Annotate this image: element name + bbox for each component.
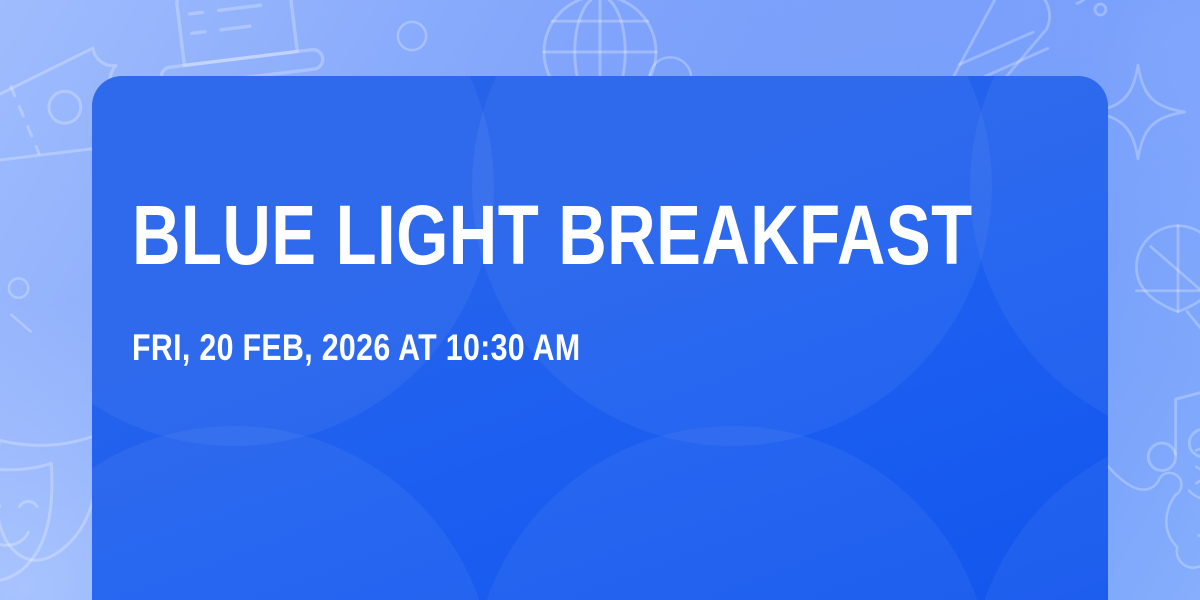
event-datetime: Fri, 20 Feb, 2026 at 10:30 AM [132, 329, 900, 366]
swirl-icon [1104, 448, 1200, 578]
card-content: Blue Light Breakfast Fri, 20 Feb, 2026 a… [132, 200, 1068, 366]
card-bubble [472, 426, 992, 600]
music-note-icon [1140, 380, 1200, 476]
dot-icon [6, 276, 36, 334]
event-title: Blue Light Breakfast [132, 200, 881, 271]
card-bubble [92, 426, 494, 600]
event-card: Blue Light Breakfast Fri, 20 Feb, 2026 a… [92, 76, 1108, 600]
card-bubble [970, 426, 1108, 600]
event-banner: Blue Light Breakfast Fri, 20 Feb, 2026 a… [0, 0, 1200, 600]
balloon-icon [1118, 218, 1200, 348]
ring-icon [392, 16, 432, 56]
